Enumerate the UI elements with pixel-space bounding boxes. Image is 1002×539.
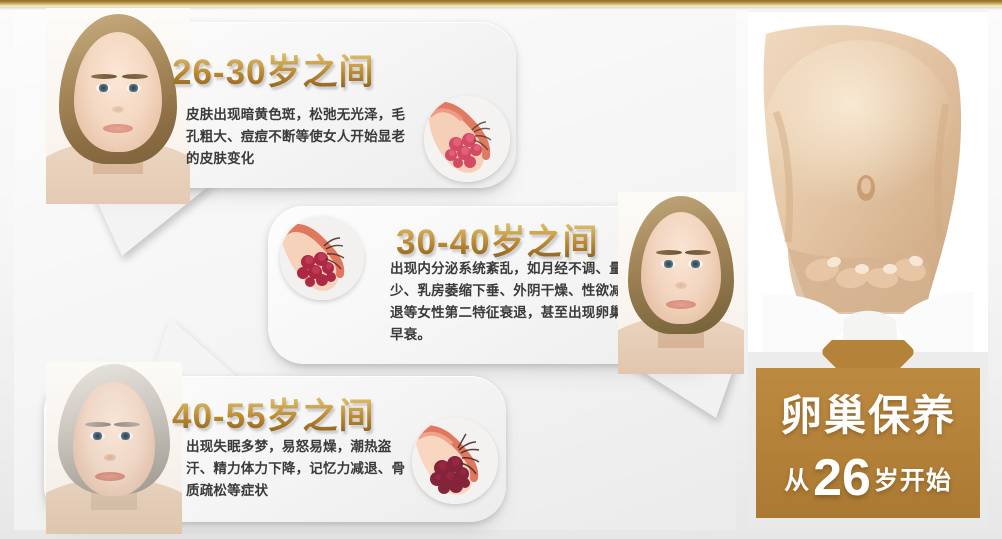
banner-subline: 从26岁开始 (756, 448, 980, 508)
panel-body-3: 出现失眠多梦，易怒易燥，潮热盗汗、精力体力下降，记忆力减退、骨质疏松等症状 (186, 436, 414, 502)
banner-headline: 卵巢保养 (756, 382, 980, 443)
panel-title-3: 40-55岁之间 (172, 388, 375, 439)
panel-body-2: 出现内分泌系统紊乱，如月经不调、量少、乳房萎缩下垂、外阴干燥、性欲减退等女性第二… (390, 258, 628, 346)
banner-number: 26 (813, 449, 871, 507)
panel-body-1: 皮肤出现暗黄色斑，松弛无光泽，毛孔粗大、痘痘不断等使女人开始显老的皮肤变化 (186, 104, 418, 170)
top-gold-rule (0, 0, 1002, 7)
gold-banner-notch (756, 340, 980, 370)
ovary-illustration-healthy (424, 96, 510, 182)
portrait-young-woman (46, 8, 190, 204)
banner-prefix: 从 (784, 467, 810, 495)
poster-canvas: 26-30岁之间 皮肤出现暗黄色斑，松弛无光泽，毛孔粗大、痘痘不断等使女人开始显… (0, 0, 1002, 539)
ovary-healthy-icon (424, 96, 510, 182)
ovary-aged-icon (412, 418, 498, 504)
portrait-middle-aged-woman (618, 192, 744, 374)
ovary-declining-icon (280, 216, 364, 300)
panel-title-1: 26-30岁之间 (172, 44, 375, 95)
banner-suffix: 岁开始 (874, 467, 952, 495)
ovary-illustration-declining (280, 216, 364, 300)
portrait-older-woman (46, 362, 182, 534)
abdomen-photo (748, 12, 988, 352)
abdomen-photo-illustration (748, 12, 988, 352)
ovary-care-banner[interactable]: 卵巢保养 从26岁开始 (756, 368, 980, 518)
ovary-illustration-aged (412, 418, 498, 504)
